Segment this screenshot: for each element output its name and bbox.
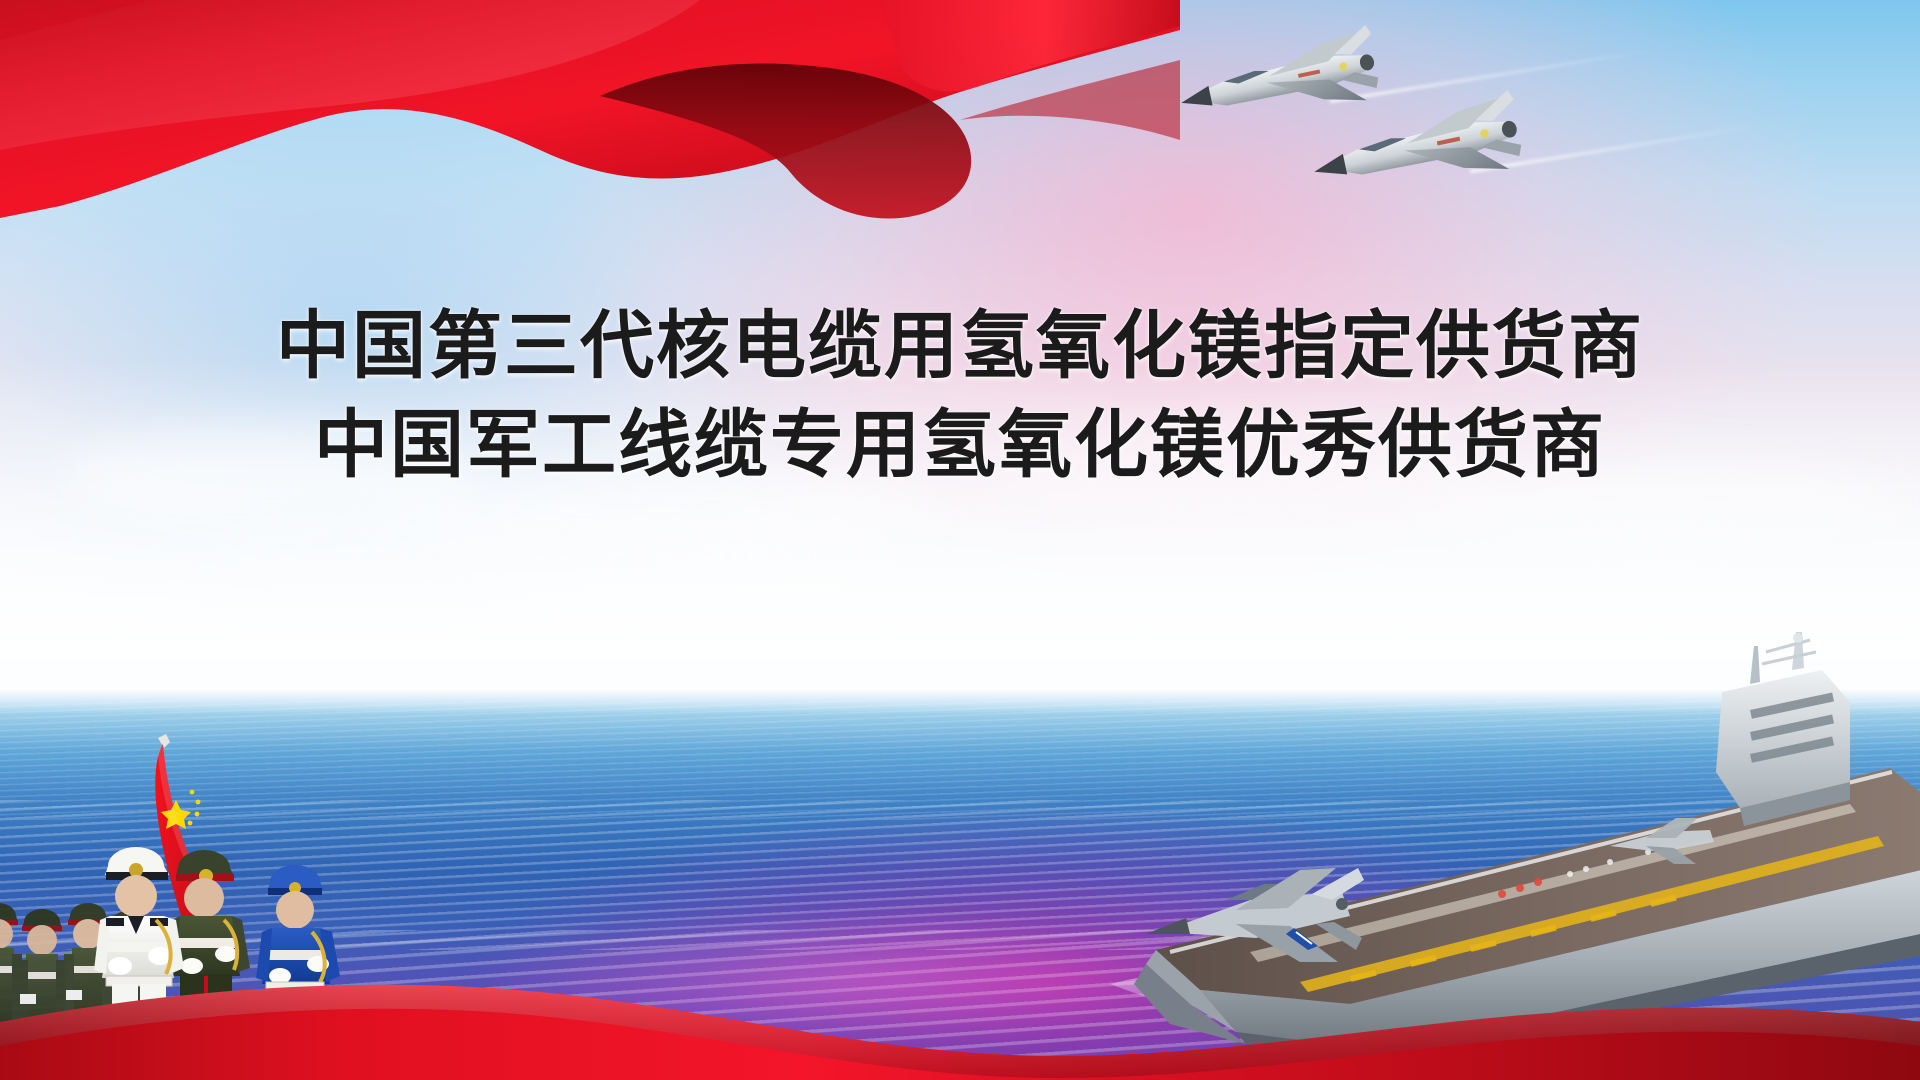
- red-ribbon-bottom: [0, 960, 1920, 1080]
- banner-root: 中国第三代核电缆用氢氧化镁指定供货商 中国军工线缆专用氢氧化镁优秀供货商: [0, 0, 1920, 1080]
- cloud: [210, 520, 910, 590]
- red-silk-flag: [0, 0, 1180, 330]
- title-line-1: 中国第三代核电缆用氢氧化镁指定供货商: [0, 296, 1920, 395]
- title-line-2: 中国军工线缆专用氢氧化镁优秀供货商: [0, 395, 1920, 494]
- banner-titles: 中国第三代核电缆用氢氧化镁指定供货商 中国军工线缆专用氢氧化镁优秀供货商: [0, 296, 1920, 494]
- carrier-island: [1716, 632, 1850, 826]
